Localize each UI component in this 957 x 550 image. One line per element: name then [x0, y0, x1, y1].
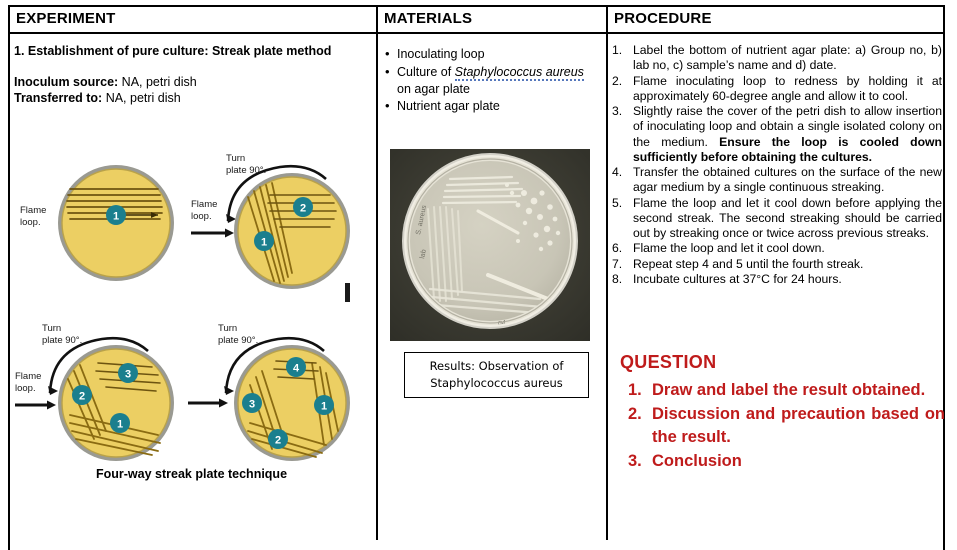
results-caption-box: Results: Observation of Staphylococcus a… [404, 352, 589, 398]
step-number: 2. [612, 74, 629, 89]
svg-text:Flame: Flame [191, 199, 217, 210]
step-text: Repeat step 4 and 5 until the fourth str… [633, 257, 863, 271]
material-text-pre: Culture of [397, 65, 455, 79]
streak-plate-step-4: Turnplate 90°. [188, 319, 366, 489]
svg-text:loop.: loop. [15, 383, 36, 394]
question-text: Conclusion [652, 452, 742, 470]
column-header-materials: MATERIALS [384, 10, 472, 27]
question-section: QUESTION 1.Draw and label the result obt… [620, 352, 945, 474]
column-header-experiment: EXPERIMENT [16, 10, 116, 27]
plate-1-flame-label: Flameloop. [20, 205, 46, 228]
plate-2-badge-2: 2 [300, 203, 306, 215]
step-text: Incubate cultures at 37°C for 24 hours. [633, 272, 842, 286]
step-text: Flame inoculating loop to redness by hol… [633, 74, 942, 103]
materials-column: •Inoculating loop •Culture of Staphyloco… [384, 40, 600, 116]
column-header-procedure: PROCEDURE [614, 10, 712, 27]
experiment-column: 1. Establishment of pure culture: Streak… [12, 38, 372, 107]
step-number: 1. [612, 43, 629, 58]
column-divider-1 [376, 5, 378, 540]
transferred-to-value: NA, petri dish [102, 91, 181, 105]
list-item: •Culture of Staphylococcus aureus on aga… [384, 64, 600, 98]
bullet-icon: • [385, 45, 390, 62]
question-number: 3. [628, 450, 642, 472]
materials-list: •Inoculating loop •Culture of Staphyloco… [384, 46, 600, 115]
plate-4-badge-1: 1 [321, 401, 327, 413]
petri-dish-photo: S. aureus lab g4 [390, 149, 590, 341]
plate-2-badge-1: 1 [261, 237, 267, 249]
streak-plate-step-3: Turnplate 90°. Flameloop. [12, 319, 190, 489]
plate-4-badge-4: 4 [293, 363, 300, 375]
step-number: 5. [612, 196, 629, 211]
question-text: Discussion and precaution based on the r… [652, 405, 945, 445]
svg-text:Flame: Flame [15, 371, 41, 382]
streak-plate-diagram: 1 Flameloop. Turnplate 90°. Flameloop. [8, 143, 370, 493]
procedure-step: 6.Flame the loop and let it cool down. [612, 241, 942, 256]
species-name-italic: Staphylococcus aureus [455, 65, 584, 81]
step-number: 6. [612, 241, 629, 256]
transferred-to-row: Transferred to: NA, petri dish [14, 90, 372, 107]
material-text: Nutrient agar plate [397, 99, 500, 113]
question-list: 1.Draw and label the result obtained. 2.… [620, 379, 945, 472]
procedure-step: 3.Slightly raise the cover of the petri … [612, 104, 942, 165]
plate-4-dish: 1 2 3 4 [234, 345, 350, 461]
step-number: 8. [612, 272, 629, 287]
stray-mark-artifact [345, 283, 350, 302]
procedure-step: 4.Transfer the obtained cultures on the … [612, 165, 942, 196]
step-text: Label the bottom of nutrient agar plate:… [633, 43, 942, 72]
procedure-step: 5.Flame the loop and let it cool down be… [612, 196, 942, 242]
plate-3-badge-1: 1 [117, 419, 123, 431]
header-separator [8, 32, 945, 34]
diagram-caption: Four-way streak plate technique [96, 467, 287, 481]
svg-text:plate 90°.: plate 90°. [218, 335, 258, 346]
svg-text:Turn: Turn [42, 323, 61, 334]
step-text: Flame the loop and let it cool down. [633, 241, 825, 255]
plate-4-badge-2: 2 [275, 435, 281, 447]
procedure-step: 8.Incubate cultures at 37°C for 24 hours… [612, 272, 942, 287]
plate-2-dish: 1 2 [234, 173, 350, 289]
procedure-step: 7.Repeat step 4 and 5 until the fourth s… [612, 257, 942, 272]
question-item: 2.Discussion and precaution based on the… [620, 403, 945, 448]
plate-3-flame-label: Flameloop. [15, 371, 41, 394]
material-text-post: on agar plate [397, 82, 470, 96]
results-caption-line1: Results: Observation of [430, 358, 564, 375]
procedure-step: 1.Label the bottom of nutrient agar plat… [612, 43, 942, 74]
svg-text:plate 90°.: plate 90°. [42, 335, 82, 346]
step-number: 3. [612, 104, 629, 119]
question-text: Draw and label the result obtained. [652, 381, 925, 399]
procedure-step: 2.Flame inoculating loop to redness by h… [612, 74, 942, 105]
plate-3-badge-3: 3 [125, 369, 131, 381]
plate-2-flame-label: Flameloop. [191, 199, 217, 222]
step-number: 4. [612, 165, 629, 180]
question-item: 1.Draw and label the result obtained. [620, 379, 945, 401]
inoculum-source-label: Inoculum source: [14, 75, 118, 89]
bullet-icon: • [385, 63, 390, 80]
list-item: •Inoculating loop [384, 46, 600, 63]
column-divider-2 [606, 5, 608, 540]
step-text: Transfer the obtained cultures on the su… [633, 165, 942, 194]
question-number: 2. [628, 403, 642, 425]
svg-text:plate 90°.: plate 90°. [226, 165, 266, 176]
document-page: EXPERIMENT MATERIALS PROCEDURE 1. Establ… [0, 0, 957, 540]
svg-text:Turn: Turn [226, 153, 245, 164]
plate-1-dish: 1 [58, 165, 174, 281]
streak-plate-step-2: Turnplate 90°. Flameloop. [188, 145, 366, 315]
question-item: 3.Conclusion [620, 450, 945, 472]
streak-plate-step-1: 1 Flameloop. [12, 145, 190, 315]
results-caption-line2: Staphylococcus aureus [430, 375, 563, 392]
list-item: •Nutrient agar plate [384, 98, 600, 115]
step-number: 7. [612, 257, 629, 272]
plate-3-badge-2: 2 [79, 391, 85, 403]
inoculum-source-row: Inoculum source: NA, petri dish [14, 74, 372, 91]
svg-text:Turn: Turn [218, 323, 237, 334]
question-number: 1. [628, 379, 642, 401]
transferred-to-label: Transferred to: [14, 91, 102, 105]
plate-4-turn-label: Turnplate 90°. [218, 323, 258, 346]
step-text: Flame the loop and let it cool down befo… [633, 196, 942, 241]
svg-text:loop.: loop. [191, 211, 212, 222]
plate-4-badge-3: 3 [249, 399, 255, 411]
procedure-column: 1.Label the bottom of nutrient agar plat… [612, 38, 942, 287]
inoculum-source-value: NA, petri dish [118, 75, 197, 89]
question-title: QUESTION [620, 352, 945, 373]
material-text: Inoculating loop [397, 47, 485, 61]
svg-text:loop.: loop. [20, 217, 41, 228]
procedure-list: 1.Label the bottom of nutrient agar plat… [612, 43, 942, 287]
svg-text:Flame: Flame [20, 205, 46, 216]
experiment-title: 1. Establishment of pure culture: Streak… [14, 44, 372, 60]
bullet-icon: • [385, 97, 390, 114]
plate-3-dish: 1 2 3 [58, 345, 174, 461]
plate-3-turn-label: Turnplate 90°. [42, 323, 82, 346]
plate-1-badge-1: 1 [113, 211, 119, 223]
